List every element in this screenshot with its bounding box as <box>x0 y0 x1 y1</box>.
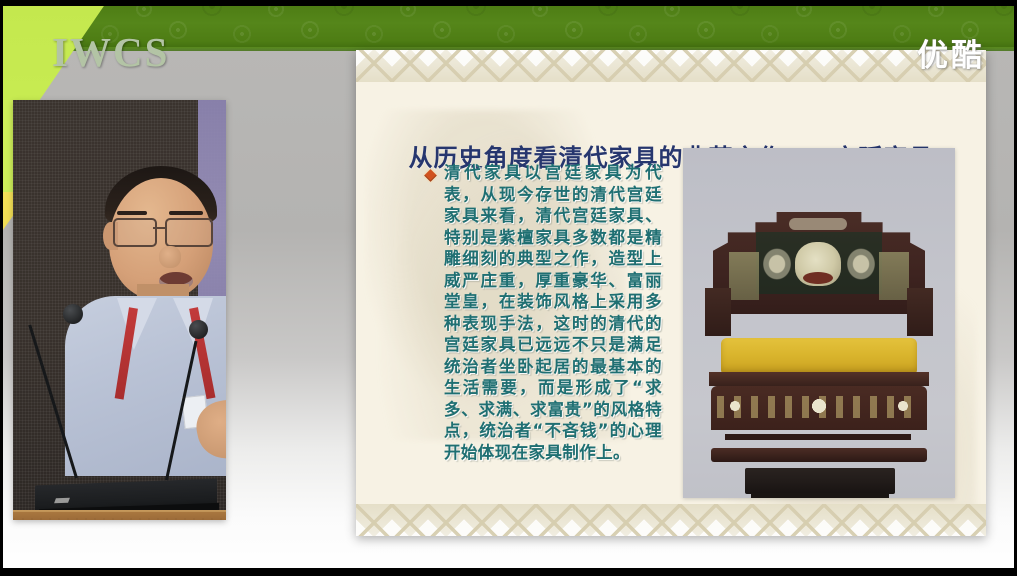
throne-armrest-right <box>907 288 933 336</box>
diamond-bullet-icon <box>424 169 437 182</box>
glasses-lens-left <box>113 218 157 247</box>
throne-scroll-right <box>843 244 879 284</box>
glasses-lens-right <box>165 218 213 247</box>
presenter-eyebrow-left <box>117 211 147 215</box>
throne-scroll-left <box>759 244 795 284</box>
furniture-photo <box>683 148 955 498</box>
footstool <box>745 468 895 494</box>
laptop-brand-logo <box>54 498 70 504</box>
microphone-head-right <box>189 320 208 339</box>
podium-wood-grain <box>13 518 226 520</box>
presenter-nose <box>159 246 181 268</box>
throne-base-plinth <box>711 448 927 462</box>
dragon-carving <box>795 242 841 286</box>
presenter-video-panel <box>13 100 226 520</box>
slide-border-top <box>356 50 986 82</box>
throne-crest-carving <box>789 218 847 230</box>
conference-logo: IWCS <box>52 28 169 76</box>
presenter-eyebrow-right <box>169 211 203 215</box>
throne-armrest-left <box>705 288 731 336</box>
letterbox-left <box>0 0 3 576</box>
slide-border-bottom <box>356 504 986 536</box>
site-watermark: 优酷 <box>917 30 985 75</box>
throne-stretcher-rail <box>725 434 911 440</box>
throne-inlay-decoration <box>717 396 921 418</box>
presenter-glasses <box>113 218 213 244</box>
slide-bullet-text: 清代家具以宫廷家具为代表，从现今存世的清代宫廷家具来看，清代宫廷家具、特别是紫檀… <box>444 162 662 463</box>
letterbox-top <box>0 0 1017 6</box>
glasses-bridge <box>153 227 165 229</box>
throne-seat-rail <box>709 372 929 386</box>
letterbox-bottom <box>0 568 1017 576</box>
throne-side-panel-right <box>879 252 909 300</box>
slide-bullet-item: 清代家具以宫廷家具为代表，从现今存世的清代宫廷家具来看，清代宫廷家具、特别是紫檀… <box>426 162 662 463</box>
yellow-seat-cushion <box>721 338 917 374</box>
throne-side-panel-left <box>729 252 759 300</box>
video-player-frame: IWCS 优酷 <box>0 0 1017 576</box>
microphone-head-left <box>63 304 83 324</box>
presentation-slide: 从历史角度看清代家具的典范之作——宫廷家具 清代家具以宫廷家具为代表，从现今存世… <box>356 50 986 536</box>
